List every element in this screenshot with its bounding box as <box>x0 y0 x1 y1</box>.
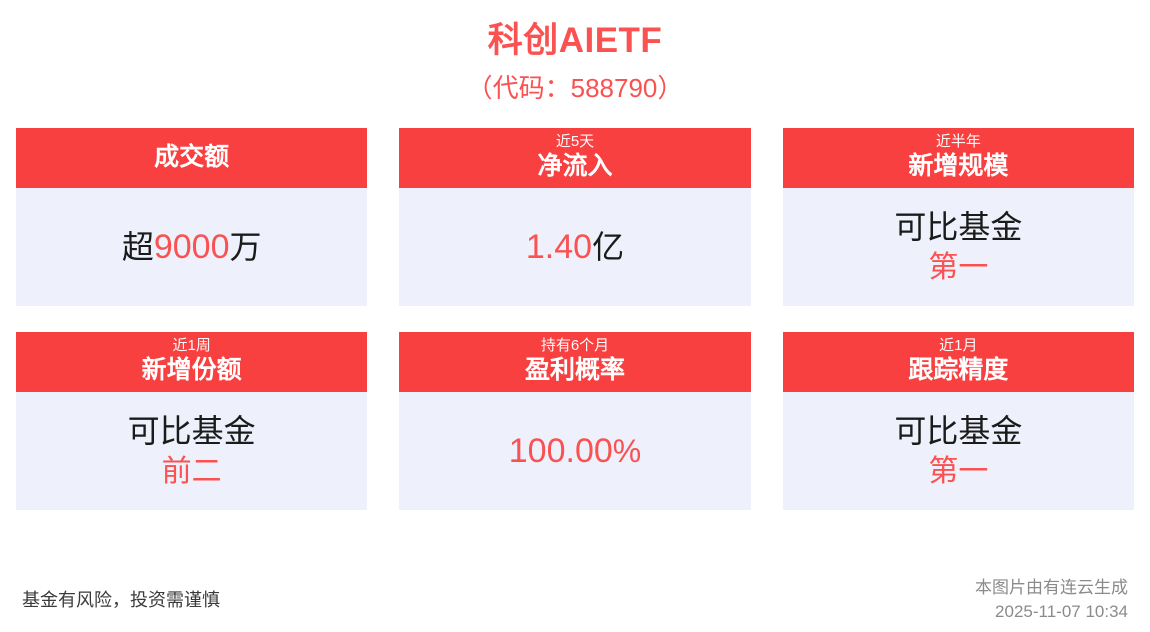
metric-title: 跟踪精度 <box>783 355 1134 386</box>
metric-title: 净流入 <box>399 151 750 182</box>
fund-code-subtitle: （代码：588790） <box>0 68 1150 108</box>
metric-period: 近1月 <box>783 336 1134 355</box>
metric-value-prefix: 超 <box>122 229 154 265</box>
metric-value-number: 100.00 <box>509 432 613 470</box>
metric-period: 近半年 <box>783 132 1134 151</box>
metric-title: 新增规模 <box>783 151 1134 182</box>
poster-footer: 基金有风险，投资需谨慎 本图片由有连云生成 2025-11-07 10:34 <box>0 562 1150 632</box>
metric-value-number: 9000 <box>154 228 230 266</box>
metric-period: 近5天 <box>399 132 750 151</box>
metric-card-body: 超9000万 <box>16 188 367 306</box>
metric-value: 可比基金 <box>894 206 1022 248</box>
metric-card-body: 可比基金 前二 <box>16 392 367 510</box>
metric-period: 持有6个月 <box>399 336 750 355</box>
metric-card: 近1月 跟踪精度 可比基金 第一 <box>783 332 1134 510</box>
metric-card: 近1周 新增份额 可比基金 前二 <box>16 332 367 510</box>
metric-value-suffix: 亿 <box>592 229 624 265</box>
metric-card-header: 近1月 跟踪精度 <box>783 332 1134 392</box>
metric-card-header: 持有6个月 盈利概率 <box>399 332 750 392</box>
image-credit: 本图片由有连云生成 2025-11-07 10:34 <box>975 576 1128 632</box>
poster-header: 科创AIETF （代码：588790） <box>0 0 1150 108</box>
metric-value: 超9000万 <box>122 226 262 268</box>
metric-card: 成交额 超9000万 <box>16 128 367 306</box>
metric-title: 成交额 <box>16 142 367 173</box>
metric-title: 盈利概率 <box>399 355 750 386</box>
metric-card-header: 近1周 新增份额 <box>16 332 367 392</box>
metric-value: 100.00% <box>509 430 641 472</box>
metric-value: 可比基金 <box>894 410 1022 452</box>
metric-card-grid: 成交额 超9000万 近5天 净流入 1.40亿 近半年 新增规模 可比基金 <box>0 128 1150 510</box>
page-title: 科创AIETF <box>0 18 1150 64</box>
metric-card: 持有6个月 盈利概率 100.00% <box>399 332 750 510</box>
metric-card-header: 近5天 净流入 <box>399 128 750 188</box>
metric-value-number: 1.40 <box>526 228 592 266</box>
metric-title: 新增份额 <box>16 355 367 386</box>
metric-card-header: 成交额 <box>16 128 367 188</box>
metric-card-header: 近半年 新增规模 <box>783 128 1134 188</box>
poster-root: 科创AIETF （代码：588790） 成交额 超9000万 近5天 净流入 1… <box>0 0 1150 632</box>
metric-card-body: 1.40亿 <box>399 188 750 306</box>
risk-disclaimer: 基金有风险，投资需谨慎 <box>22 586 220 632</box>
metric-rank: 前二 <box>162 452 222 492</box>
metric-period: 近1周 <box>16 336 367 355</box>
image-credit-timestamp: 2025-11-07 10:34 <box>975 600 1128 624</box>
metric-value: 可比基金 <box>128 410 256 452</box>
metric-card: 近半年 新增规模 可比基金 第一 <box>783 128 1134 306</box>
metric-rank: 第一 <box>928 452 988 492</box>
metric-value: 1.40亿 <box>526 226 624 268</box>
metric-value-suffix: 万 <box>229 229 261 265</box>
metric-card-body: 可比基金 第一 <box>783 392 1134 510</box>
metric-card: 近5天 净流入 1.40亿 <box>399 128 750 306</box>
metric-card-body: 可比基金 第一 <box>783 188 1134 306</box>
metric-rank: 第一 <box>928 248 988 288</box>
metric-value-suffix: % <box>613 433 641 469</box>
metric-card-body: 100.00% <box>399 392 750 510</box>
image-credit-source: 本图片由有连云生成 <box>975 576 1128 600</box>
